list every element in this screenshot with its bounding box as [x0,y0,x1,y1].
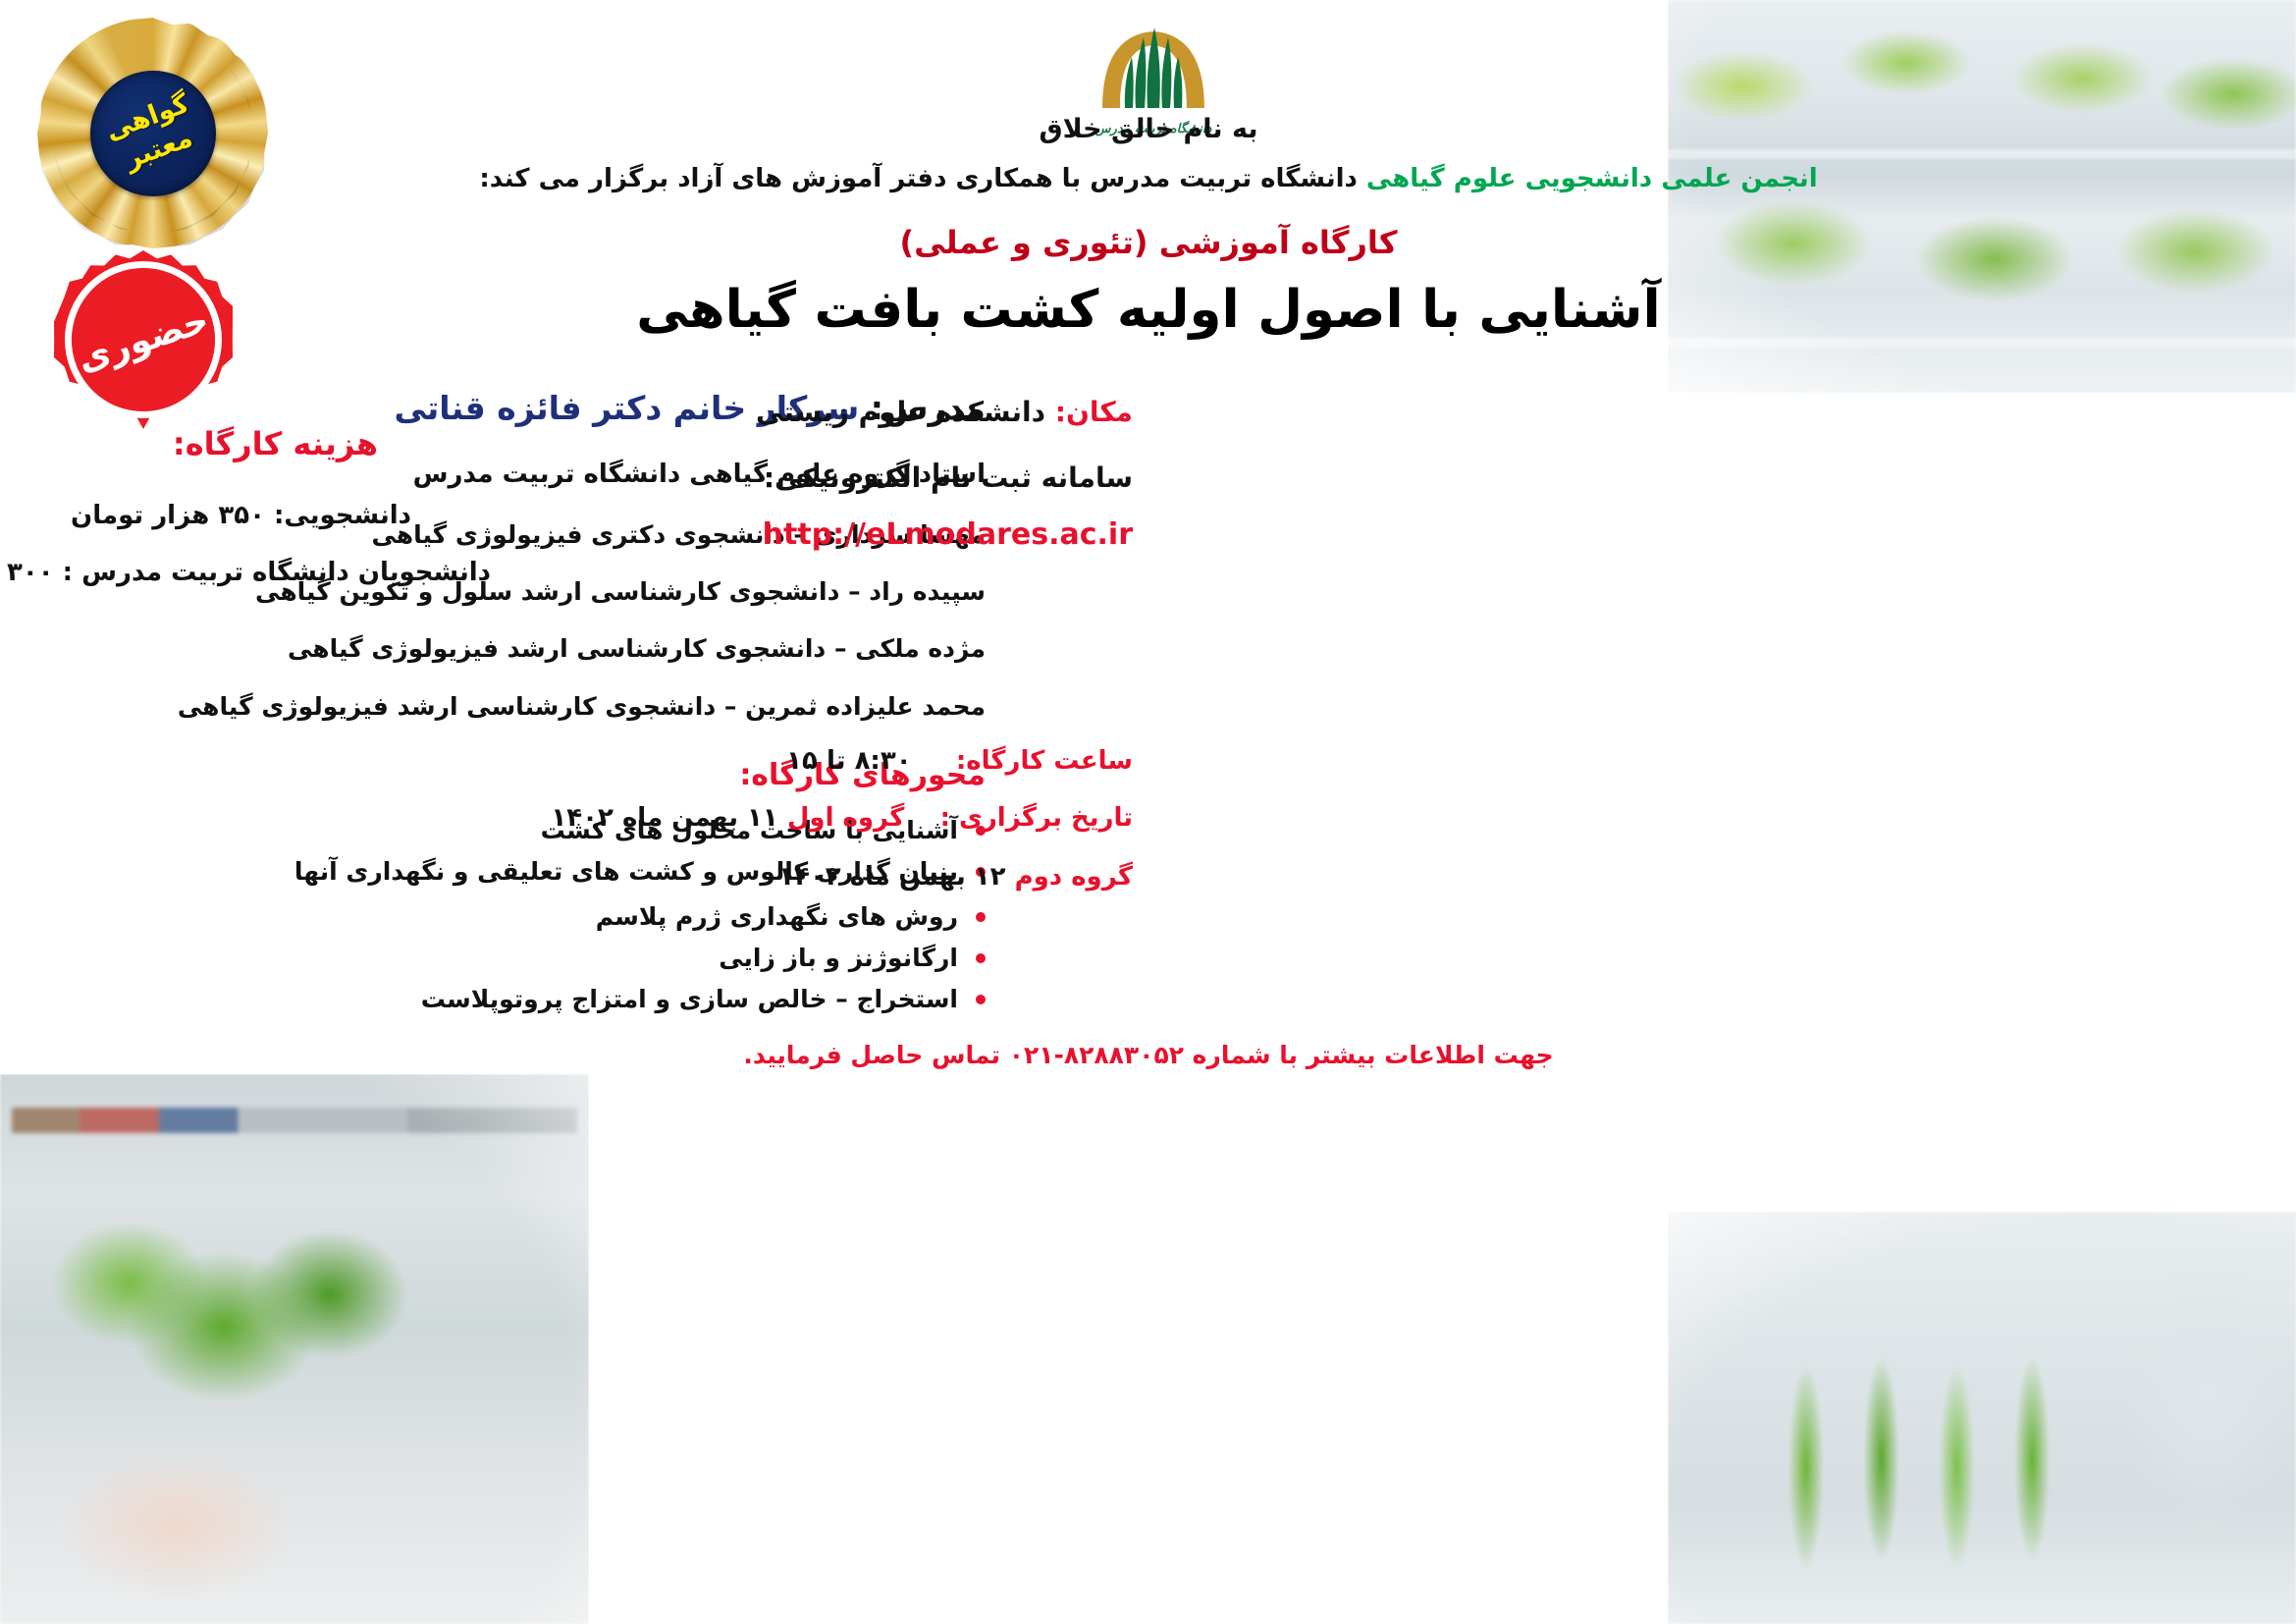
photo-color-stripe [12,1108,577,1133]
group2-label: گروه دوم [1015,862,1133,892]
organizer-rest: دانشگاه تربیت مدرس با همکاری دفتر آموزش … [479,164,1366,193]
cost-heading: هزینه کارگاه: [173,425,378,462]
workshop-time-value: ۸:۳۰ تا ۱۵ [786,746,911,776]
workshop-time-line: ساعت کارگاه: ۸:۳۰ تا ۱۵ [786,746,1133,776]
in-person-badge-label: حضوری [73,299,214,380]
workshop-date-group1: تاریخ برگزاری : گروه اول ۱۱ بهمن ماه ۱۴۰… [551,803,1133,833]
workshop-title: آشنایی با اصول اولیه کشت بافت گیاهی [636,280,1660,340]
group1-value: ۱۱ بهمن ماه ۱۴۰۲ [551,803,786,833]
bullet-icon [976,995,986,1004]
venue-line: مکان: دانشکده علوم زیستی [756,396,1133,428]
bullet-icon [976,912,986,922]
assistant-name: محمد علیزاده ثمرین – دانشجوی کارشناسی ار… [178,692,986,721]
registration-url-link[interactable]: http://eLmodares.ac.ir [763,517,1133,552]
shelf-line [1668,149,2296,159]
shelf-line [1668,338,2296,348]
topic-label: ارگانوژنز و باز زایی [719,944,958,972]
topic-list-item: روش های نگهداری ژرم پلاسم [596,902,986,931]
photo-tissue-culture-jars-top [1668,0,2296,393]
certificate-badge-label: گواهی معتبر [82,81,223,186]
topic-list-item: ارگانوژنز و باز زایی [719,944,986,972]
certificate-seal-badge: گواهی معتبر [37,18,268,248]
contact-line: جهت اطلاعات بیشتر با شماره ۸۲۸۸۳۰۵۲-۰۲۱ … [743,1041,1553,1069]
badge-face: حضوری [72,268,215,411]
group2-value: ۱۲ بهمن ماه ۱۴۰۲ [778,862,1014,892]
workshop-date-group2: گروه دوم ۱۲ بهمن ماه ۱۴۰۲ [778,862,1133,892]
poster-canvas: گواهی معتبر حضوری دانشگاه تربیت مدرس به … [0,0,2296,1624]
assistant-name: مژده ملکی – دانشجوی کارشناسی ارشد فیزیول… [288,634,986,663]
group1-label: گروه اول [787,803,905,833]
venue-value: دانشکده علوم زیستی [756,396,1055,428]
topic-label: روش های نگهداری ژرم پلاسم [596,902,958,931]
workshop-time-label: ساعت کارگاه: [956,746,1133,776]
university-emblem-icon [1085,14,1222,124]
topic-label: استخراج – خالص سازی و امتزاج پروتوپلاست [421,985,958,1013]
photo-hand-holding-culture-jar [0,1074,589,1624]
venue-label: مکان: [1055,396,1133,428]
in-person-badge: حضوری [54,250,233,429]
workshop-type-label: کارگاه آموزشی (تئوری و عملی) [899,224,1397,261]
organizer-line: انجمن علمی دانشجویی علوم گیاهی دانشگاه ت… [479,164,1817,193]
date-label: تاریخ برگزاری : [940,803,1133,833]
bullet-icon [976,953,986,963]
photo-gloved-hand-test-tubes [1668,1212,2296,1624]
cost-student-fee: دانشجویی: ۳۵۰ هزار تومان [71,501,411,530]
registration-label: سامانه ثبت نام الکترونیکی: [764,461,1133,494]
organizer-highlight: انجمن علمی دانشجویی علوم گیاهی [1366,164,1818,193]
bismillah-line: به نام خالق خلاق [1040,114,1258,144]
seal-face: گواهی معتبر [90,71,216,196]
cost-tmu-student-fee: دانشجویان دانشگاه تربیت مدرس : ۳۰۰ هزار … [0,558,491,587]
topic-list-item: استخراج – خالص سازی و امتزاج پروتوپلاست [421,985,986,1013]
